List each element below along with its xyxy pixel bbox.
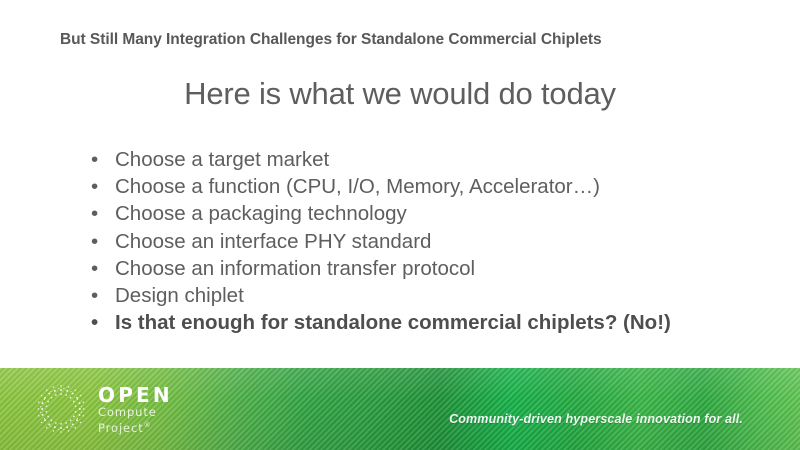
registered-trademark-icon: ® — [144, 421, 152, 429]
list-item-label: Choose a function (CPU, I/O, Memory, Acc… — [115, 175, 600, 198]
list-item: • Choose a target market — [88, 146, 768, 173]
bullet-point-icon: • — [91, 309, 101, 336]
bullet-point-icon: • — [91, 282, 101, 309]
ocp-wordmark-project: Project® — [98, 419, 173, 435]
ocp-wordmark-open: OPEN — [98, 385, 173, 406]
list-item-label: Choose an information transfer protocol — [115, 257, 475, 280]
bullet-point-icon: • — [91, 228, 101, 255]
list-item: • Choose an interface PHY standard — [88, 228, 768, 255]
ocp-wordmark-compute: Compute — [98, 406, 173, 420]
list-item-label: Is that enough for standalone commercial… — [115, 311, 671, 334]
open-compute-project-logo: OPEN Compute Project® — [33, 381, 173, 437]
bullet-list: • Choose a target market • Choose a func… — [88, 146, 768, 336]
footer-banner: OPEN Compute Project® Community-driven h… — [0, 368, 800, 450]
list-item: • Design chiplet — [88, 282, 768, 309]
list-item: • Choose a function (CPU, I/O, Memory, A… — [88, 173, 768, 200]
footer-tagline: Community-driven hyperscale innovation f… — [449, 412, 743, 426]
bullet-point-icon: • — [91, 255, 101, 282]
ocp-circular-dot-burst-icon — [33, 381, 89, 437]
list-item-label: Choose a packaging technology — [115, 202, 407, 225]
slide-title: Here is what we would do today — [0, 76, 800, 112]
bullet-point-icon: • — [91, 200, 101, 227]
list-item: • Is that enough for standalone commerci… — [88, 309, 768, 336]
bullet-point-icon: • — [91, 146, 101, 173]
list-item-label: Choose a target market — [115, 148, 329, 171]
slide-header-text: But Still Many Integration Challenges fo… — [60, 31, 760, 49]
list-item: • Choose an information transfer protoco… — [88, 255, 768, 282]
list-item-label: Design chiplet — [115, 284, 244, 307]
list-item: • Choose a packaging technology — [88, 200, 768, 227]
bullet-point-icon: • — [91, 173, 101, 200]
ocp-wordmark: OPEN Compute Project® — [98, 383, 173, 436]
list-item-label: Choose an interface PHY standard — [115, 230, 431, 253]
ocp-wordmark-project-text: Project — [98, 421, 144, 435]
presentation-slide: But Still Many Integration Challenges fo… — [0, 0, 800, 450]
